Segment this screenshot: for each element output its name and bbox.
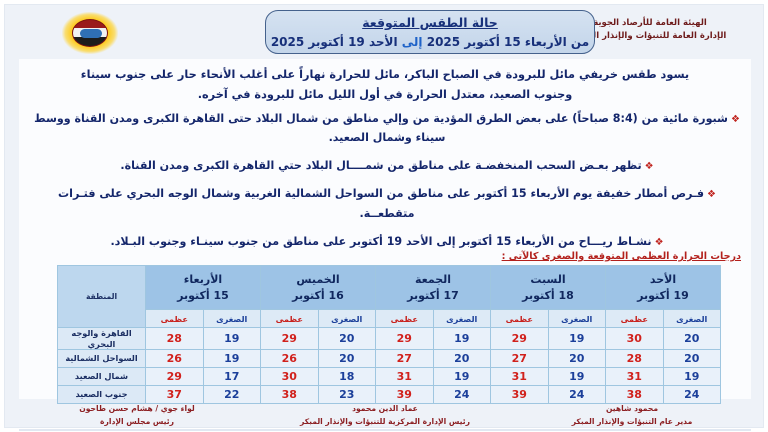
date-range-connector: إلى <box>402 35 423 49</box>
min-value: 24 <box>663 386 721 404</box>
temperature-table: الأحد 19 أكتوبر السبت 18 أكتوبر الجمعة 1… <box>57 265 721 404</box>
day-date: 15 أكتوبر <box>146 288 260 304</box>
forecast-bullet-list: ❖شبورة مائية من (8:4 صباحاً) على بعض الط… <box>29 109 745 260</box>
date-range-end: الأحد 19 أكتوبر 2025 <box>271 35 398 49</box>
min-label: الصغرى <box>318 310 376 328</box>
day-header-saturday: السبت 18 أكتوبر <box>491 266 606 310</box>
day-name: الأحد <box>606 272 720 288</box>
max-label: عظمى <box>261 310 319 328</box>
day-date: 17 أكتوبر <box>376 288 490 304</box>
max-value: 29 <box>491 328 549 350</box>
min-value: 18 <box>318 368 376 386</box>
max-value: 39 <box>491 386 549 404</box>
max-label: عظمى <box>376 310 434 328</box>
min-value: 19 <box>433 328 491 350</box>
max-label: عظمى <box>146 310 204 328</box>
signature-name: لواء جوي / هشام حسن طاحون <box>27 403 247 416</box>
day-header-friday: الجمعة 17 أكتوبر <box>376 266 491 310</box>
day-name: الجمعة <box>376 272 490 288</box>
signature-name: عماد الدين محمود <box>270 403 500 416</box>
min-value: 23 <box>318 386 376 404</box>
max-value: 38 <box>606 386 664 404</box>
signature-title: رئيس الإدارة المركزية للتنبؤات والإنذار … <box>270 416 500 429</box>
signature-right: محمود شاهين مدير عام التنبؤات والإنذار ا… <box>517 403 747 429</box>
max-value: 39 <box>376 386 434 404</box>
min-value: 20 <box>433 350 491 368</box>
region-label: شمال الصعيد <box>58 368 146 386</box>
max-value: 29 <box>146 368 204 386</box>
day-name: الخميس <box>261 272 375 288</box>
list-item-text: نشـاط ريـــاح من الأربعاء 15 أكتوبر إلى … <box>110 235 651 248</box>
max-value: 38 <box>261 386 319 404</box>
list-item-text: شبورة مائية من (8:4 صباحاً) على بعض الطر… <box>34 112 728 144</box>
bullet-marker-icon: ❖ <box>731 114 740 125</box>
max-value: 31 <box>606 368 664 386</box>
min-value: 17 <box>203 368 261 386</box>
max-value: 31 <box>491 368 549 386</box>
min-label: الصغرى <box>203 310 261 328</box>
forecast-title-box: حالة الطقس المتوقعة من الأربعاء 15 أكتوب… <box>265 10 595 54</box>
document-sheet: الهيئة العامة للأرصاد الجوية الإدارة الع… <box>4 4 764 428</box>
bullet-marker-icon: ❖ <box>645 161 654 172</box>
table-caption: درجات الحرارة العظمى المتوقعة والصغرى كا… <box>502 251 741 262</box>
logo-emblem-icon <box>72 19 108 47</box>
date-range-start: من الأربعاء 15 أكتوبر 2025 <box>427 35 589 49</box>
document-footer: محمود شاهين مدير عام التنبؤات والإنذار ا… <box>5 403 765 432</box>
region-label: القاهرة والوجه البحري <box>58 328 146 350</box>
max-value: 28 <box>146 328 204 350</box>
min-value: 24 <box>548 386 606 404</box>
min-value: 20 <box>318 328 376 350</box>
max-value: 30 <box>606 328 664 350</box>
table-row: 19 31 19 31 19 31 18 30 17 29 شمال الصعي… <box>58 368 721 386</box>
min-value: 19 <box>433 368 491 386</box>
table-row: 20 30 19 29 19 29 20 29 19 28 القاهرة وا… <box>58 328 721 350</box>
bullet-marker-icon: ❖ <box>655 237 664 248</box>
signature-title: رئيس مجلس الإدارة <box>27 416 247 429</box>
min-value: 19 <box>663 368 721 386</box>
day-name: الأربعاء <box>146 272 260 288</box>
day-date: 18 أكتوبر <box>491 288 605 304</box>
min-value: 19 <box>203 350 261 368</box>
intro-line-2: وجنوب الصعيد، معتدل الحرارة في أول الليل… <box>29 85 741 105</box>
region-column-header: المنطقة <box>58 266 146 328</box>
signature-title: مدير عام التنبؤات والإنذار المبكر <box>517 416 747 429</box>
intro-paragraph: يسود طقس خريفي مائل للبرودة في الصباح ال… <box>29 65 741 105</box>
min-label: الصغرى <box>433 310 491 328</box>
signature-center: عماد الدين محمود رئيس الإدارة المركزية ل… <box>270 403 500 429</box>
max-value: 26 <box>261 350 319 368</box>
max-value: 27 <box>491 350 549 368</box>
max-label: عظمى <box>491 310 549 328</box>
min-value: 20 <box>663 350 721 368</box>
max-value: 27 <box>376 350 434 368</box>
forecast-date-range: من الأربعاء 15 أكتوبر 2025 إلى الأحد 19 … <box>266 33 594 51</box>
min-label: الصغرى <box>663 310 721 328</box>
day-name: السبت <box>491 272 605 288</box>
signature-left: لواء جوي / هشام حسن طاحون رئيس مجلس الإد… <box>27 403 247 429</box>
page-title: حالة الطقس المتوقعة <box>266 14 594 33</box>
max-value: 30 <box>261 368 319 386</box>
max-label: عظمى <box>606 310 664 328</box>
min-value: 24 <box>433 386 491 404</box>
meteorological-authority-logo-icon <box>57 11 123 55</box>
min-value: 20 <box>663 328 721 350</box>
forecast-page: الهيئة العامة للأرصاد الجوية الإدارة الع… <box>0 0 768 432</box>
max-value: 29 <box>376 328 434 350</box>
region-label: جنوب الصعيد <box>58 386 146 404</box>
day-header-wednesday: الأربعاء 15 أكتوبر <box>146 266 261 310</box>
min-value: 20 <box>548 350 606 368</box>
day-date: 19 أكتوبر <box>606 288 720 304</box>
day-header-thursday: الخميس 16 أكتوبر <box>261 266 376 310</box>
region-label: السواحل الشمالية <box>58 350 146 368</box>
max-value: 29 <box>261 328 319 350</box>
min-label: الصغرى <box>548 310 606 328</box>
table-row: 24 38 24 39 24 39 23 38 22 37 جنوب الصعي… <box>58 386 721 404</box>
list-item: ❖شبورة مائية من (8:4 صباحاً) على بعض الط… <box>29 109 745 147</box>
min-value: 20 <box>318 350 376 368</box>
min-value: 19 <box>548 368 606 386</box>
document-header: الهيئة العامة للأرصاد الجوية الإدارة الع… <box>5 5 765 57</box>
max-value: 28 <box>606 350 664 368</box>
list-item: ❖تظهر بعـض السحب المنخفضـة على مناطق من … <box>29 156 745 175</box>
max-value: 37 <box>146 386 204 404</box>
signature-name: محمود شاهين <box>517 403 747 416</box>
cloud-icon <box>80 29 102 38</box>
table-header-row-days: الأحد 19 أكتوبر السبت 18 أكتوبر الجمعة 1… <box>58 266 721 310</box>
day-date: 16 أكتوبر <box>261 288 375 304</box>
table-header-row-minmax: الصغرى عظمى الصغرى عظمى الصغرى عظمى الصغ… <box>58 310 721 328</box>
intro-line-1: يسود طقس خريفي مائل للبرودة في الصباح ال… <box>29 65 741 85</box>
max-value: 31 <box>376 368 434 386</box>
day-header-sunday: الأحد 19 أكتوبر <box>606 266 721 310</box>
list-item: ❖نشـاط ريـــاح من الأربعاء 15 أكتوبر إلى… <box>29 232 745 251</box>
table-body: 20 30 19 29 19 29 20 29 19 28 القاهرة وا… <box>58 328 721 404</box>
min-value: 19 <box>203 328 261 350</box>
list-item-text: فـرص أمطار خفيفة يوم الأربعاء 15 أكتوبر … <box>58 187 704 219</box>
list-item-text: تظهر بعـض السحب المنخفضـة على مناطق من ش… <box>120 159 641 172</box>
table-row: 20 28 20 27 20 27 20 26 19 26 السواحل ال… <box>58 350 721 368</box>
temperature-table-wrapper: الأحد 19 أكتوبر السبت 18 أكتوبر الجمعة 1… <box>57 265 721 404</box>
min-value: 19 <box>548 328 606 350</box>
bullet-marker-icon: ❖ <box>707 189 716 200</box>
footer-divider <box>19 429 751 431</box>
max-value: 26 <box>146 350 204 368</box>
min-value: 22 <box>203 386 261 404</box>
list-item: ❖فـرص أمطار خفيفة يوم الأربعاء 15 أكتوبر… <box>29 184 745 222</box>
